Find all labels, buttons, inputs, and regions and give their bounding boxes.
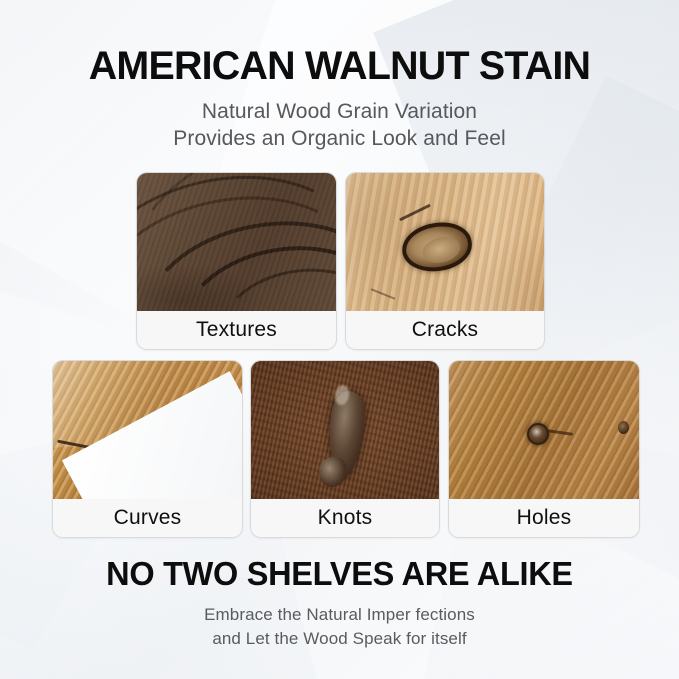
footer-subtitle-line-2: and Let the Wood Speak for itself: [0, 627, 679, 651]
feature-card-textures[interactable]: Textures: [136, 172, 337, 350]
card-caption-curves: Curves: [53, 499, 242, 537]
wood-texture-light-tan: [346, 173, 544, 311]
wood-photo-holes: [449, 361, 639, 499]
wood-texture-dark-walnut: [137, 173, 336, 311]
card-caption-knots: Knots: [251, 499, 439, 537]
header-subtitle-line-1: Natural Wood Grain Variation: [0, 98, 679, 125]
footer-subtitle-line-1: Embrace the Natural Imper fections: [0, 603, 679, 627]
footer-headline: NO TWO SHELVES ARE ALIKE: [5, 555, 674, 593]
wood-texture-medium-oak: [449, 361, 639, 499]
main-headline: AMERICAN WALNUT STAIN: [5, 45, 674, 87]
wood-photo-curves: [53, 361, 242, 499]
infographic-canvas: AMERICAN WALNUT STAIN Natural Wood Grain…: [0, 0, 679, 679]
card-caption-textures: Textures: [137, 311, 336, 349]
footer-subtitle: Embrace the Natural Imper fections and L…: [0, 603, 679, 651]
wood-photo-cracks: [346, 173, 544, 311]
grain-overlay: [137, 173, 336, 311]
feature-card-curves[interactable]: Curves: [52, 360, 243, 538]
header-block: AMERICAN WALNUT STAIN Natural Wood Grain…: [0, 0, 679, 153]
wood-texture-dark-rough: [251, 361, 439, 499]
card-caption-cracks: Cracks: [346, 311, 544, 349]
wood-hole: [527, 423, 549, 445]
header-subtitle-line-2: Provides an Organic Look and Feel: [0, 125, 679, 152]
feature-card-cracks[interactable]: Cracks: [345, 172, 545, 350]
card-caption-holes: Holes: [449, 499, 639, 537]
feature-card-knots[interactable]: Knots: [250, 360, 440, 538]
knot-core: [420, 233, 463, 266]
header-subtitle: Natural Wood Grain Variation Provides an…: [0, 98, 679, 153]
wood-texture-diagonal-plank: [53, 361, 242, 499]
wood-hole-secondary: [618, 421, 629, 434]
wood-photo-knots: [251, 361, 439, 499]
footer-block: NO TWO SHELVES ARE ALIKE Embrace the Nat…: [0, 555, 679, 651]
wood-photo-textures: [137, 173, 336, 311]
feature-card-holes[interactable]: Holes: [448, 360, 640, 538]
